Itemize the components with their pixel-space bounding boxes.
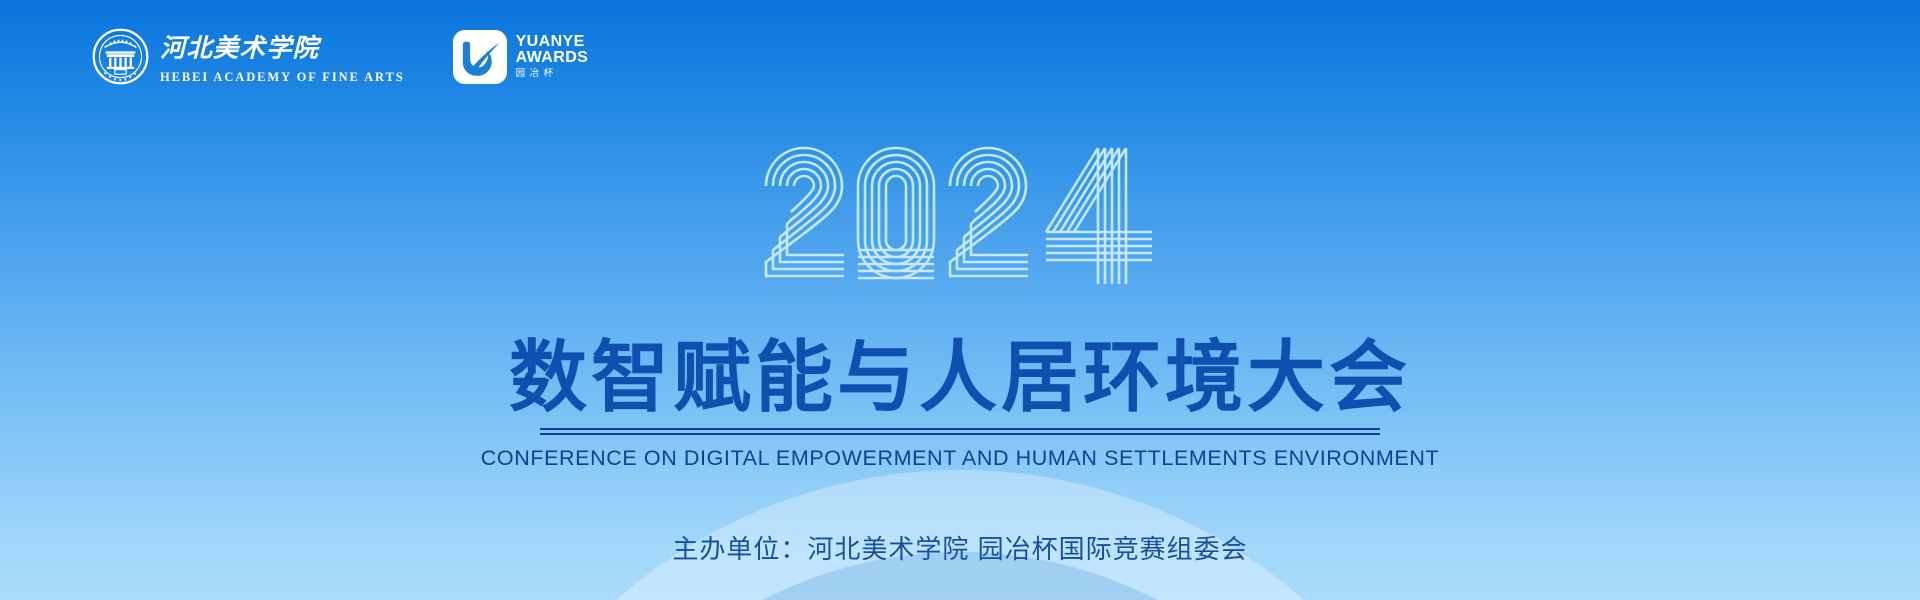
hebei-academy-logo[interactable]: 河北美术学院 HEBEI ACADEMY OF FINE ARTS (92, 28, 405, 85)
hebei-academy-wordmark: 河北美术学院 HEBEI ACADEMY OF FINE ARTS (160, 30, 405, 84)
year-2024-graphic (760, 140, 1160, 292)
conference-banner: 河北美术学院 HEBEI ACADEMY OF FINE ARTS YUANYE… (0, 0, 1920, 600)
yuanye-line1: YUANYE (516, 34, 589, 50)
hebei-academy-seal-icon (92, 28, 149, 85)
yuanye-name-cn: 园冶杯 (516, 69, 589, 79)
year-digit-0 (858, 148, 934, 278)
title-divider-rule-top (540, 428, 1380, 430)
hebei-academy-name-en: HEBEI ACADEMY OF FINE ARTS (160, 71, 405, 84)
year-digit-4 (1046, 148, 1152, 284)
title-divider-rules (540, 428, 1380, 435)
hebei-academy-name-cn: 河北美术学院 (160, 30, 405, 66)
year-digit-2b (950, 148, 1028, 276)
title-divider-rule-bottom (540, 433, 1380, 435)
yuanye-awards-logo[interactable]: YUANYE AWARDS 园冶杯 (453, 30, 589, 84)
organizer-line: 主办单位：河北美术学院 园冶杯国际竞赛组委会 (0, 529, 1920, 566)
logo-row: 河北美术学院 HEBEI ACADEMY OF FINE ARTS YUANYE… (92, 28, 588, 85)
yuanye-swoosh-icon (453, 30, 507, 84)
yuanye-line2: AWARDS (516, 50, 589, 66)
year-digit-2a (766, 148, 844, 276)
yuanye-awards-wordmark: YUANYE AWARDS 园冶杯 (516, 34, 589, 79)
title-block: 数智赋能与人居环境大会 CONFERENCE ON DIGITAL EMPOWE… (0, 338, 1920, 471)
conference-title-cn: 数智赋能与人居环境大会 (0, 338, 1920, 416)
hebei-cn-glyphs: 河北美术学院 (160, 33, 323, 62)
conference-title-en: CONFERENCE ON DIGITAL EMPOWERMENT AND HU… (0, 446, 1920, 471)
